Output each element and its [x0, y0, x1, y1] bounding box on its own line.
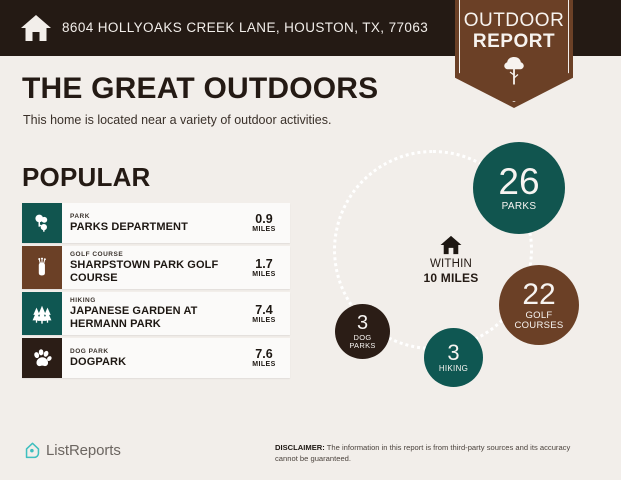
summary-center-line1: WITHIN [408, 258, 494, 271]
list-item-name: PARKS DEPARTMENT [70, 221, 244, 234]
list-item[interactable]: HIKING JAPANESE GARDEN AT HERMANN PARK 7… [22, 292, 290, 335]
home-icon [440, 235, 462, 255]
summary-center-line2: 10 MILES [408, 271, 494, 285]
pine-trees-icon [30, 303, 54, 325]
list-item-distance: 7.4 MILES [244, 303, 288, 324]
list-item-name: SHARPSTOWN PARK GOLF COURSE [70, 259, 244, 284]
golf-icon-box [22, 246, 62, 289]
list-item-text: DOG PARK DOGPARK [70, 347, 244, 369]
summary-count: 26 [498, 163, 539, 200]
list-item[interactable]: DOG PARK DOGPARK 7.6 MILES [22, 338, 290, 378]
property-address: 8604 HOLLYOAKS CREEK LANE, HOUSTON, TX, … [62, 20, 428, 35]
dogpark-icon-box [22, 338, 62, 378]
list-item-category: DOG PARK [70, 347, 244, 356]
summary-circle-dog-parks[interactable]: 3 DOG PARKS [335, 304, 390, 359]
popular-list: PARK PARKS DEPARTMENT 0.9 MILES [22, 203, 290, 381]
disclaimer-label: DISCLAIMER: [275, 443, 325, 452]
list-item[interactable]: PARK PARKS DEPARTMENT 0.9 MILES [22, 203, 290, 243]
tree-icon [502, 56, 526, 86]
park-icon-box [22, 203, 62, 243]
summary-count: 22 [522, 280, 555, 310]
park-tree-icon [31, 212, 53, 234]
list-item-body: HIKING JAPANESE GARDEN AT HERMANN PARK 7… [62, 292, 290, 335]
list-item-category: GOLF COURSE [70, 250, 244, 259]
summary-count: 3 [357, 313, 368, 333]
summary-label-line2: PARKS [349, 341, 375, 350]
list-item-category: HIKING [70, 296, 244, 305]
summary-label: DOG PARKS [349, 334, 375, 350]
list-item-name: DOGPARK [70, 356, 244, 369]
list-item-body: DOG PARK DOGPARK 7.6 MILES [62, 338, 290, 378]
summary-label-line2: COURSES [514, 320, 563, 331]
list-item-distance-unit: MILES [244, 271, 284, 278]
list-item-body: GOLF COURSE SHARPSTOWN PARK GOLF COURSE … [62, 246, 290, 289]
outdoor-report-page: 8604 HOLLYOAKS CREEK LANE, HOUSTON, TX, … [0, 0, 621, 480]
list-item-body: PARK PARKS DEPARTMENT 0.9 MILES [62, 203, 290, 243]
summary-label: HIKING [439, 365, 468, 373]
list-item-name: JAPANESE GARDEN AT HERMANN PARK [70, 305, 244, 330]
listreports-logo[interactable]: ListReports [24, 442, 121, 459]
list-item-distance: 7.6 MILES [244, 347, 288, 368]
list-item-text: GOLF COURSE SHARPSTOWN PARK GOLF COURSE [70, 250, 244, 284]
golf-bag-icon [31, 257, 53, 279]
badge-line2: REPORT [455, 31, 573, 53]
summary-circle-golf-courses[interactable]: 22 GOLF COURSES [499, 265, 579, 345]
summary-circles: 26 PARKS 22 GOLF COURSES 3 HIKING 3 DOG … [318, 140, 608, 405]
list-item-distance-unit: MILES [244, 361, 284, 368]
summary-label: GOLF COURSES [514, 311, 563, 331]
list-item-distance-unit: MILES [244, 317, 284, 324]
list-item-distance-value: 7.6 [244, 347, 284, 361]
summary-circle-hiking[interactable]: 3 HIKING [424, 328, 483, 387]
list-item-distance-value: 0.9 [244, 212, 284, 226]
popular-heading: POPULAR [22, 162, 151, 193]
disclaimer: DISCLAIMER: The information in this repo… [275, 443, 595, 464]
list-item-text: HIKING JAPANESE GARDEN AT HERMANN PARK [70, 296, 244, 330]
page-title: THE GREAT OUTDOORS [22, 72, 378, 106]
list-item-distance-unit: MILES [244, 226, 284, 233]
paw-print-icon [31, 347, 53, 369]
summary-center: WITHIN 10 MILES [408, 235, 494, 285]
hiking-icon-box [22, 292, 62, 335]
list-item-distance: 0.9 MILES [244, 212, 288, 233]
summary-circle-parks[interactable]: 26 PARKS [473, 142, 565, 234]
list-item-distance-value: 7.4 [244, 303, 284, 317]
listreports-logo-text: ListReports [46, 442, 121, 459]
list-item-category: PARK [70, 212, 244, 221]
list-item-text: PARK PARKS DEPARTMENT [70, 212, 244, 234]
summary-label: PARKS [502, 202, 537, 213]
list-item-distance: 1.7 MILES [244, 257, 288, 278]
home-icon [20, 12, 52, 44]
summary-count: 3 [447, 342, 459, 364]
list-item[interactable]: GOLF COURSE SHARPSTOWN PARK GOLF COURSE … [22, 246, 290, 289]
list-item-distance-value: 1.7 [244, 257, 284, 271]
listreports-house-icon [24, 442, 41, 459]
outdoor-report-badge: OUTDOOR REPORT [455, 0, 573, 108]
badge-line1: OUTDOOR [455, 10, 573, 32]
page-subtitle: This home is located near a variety of o… [23, 113, 331, 127]
